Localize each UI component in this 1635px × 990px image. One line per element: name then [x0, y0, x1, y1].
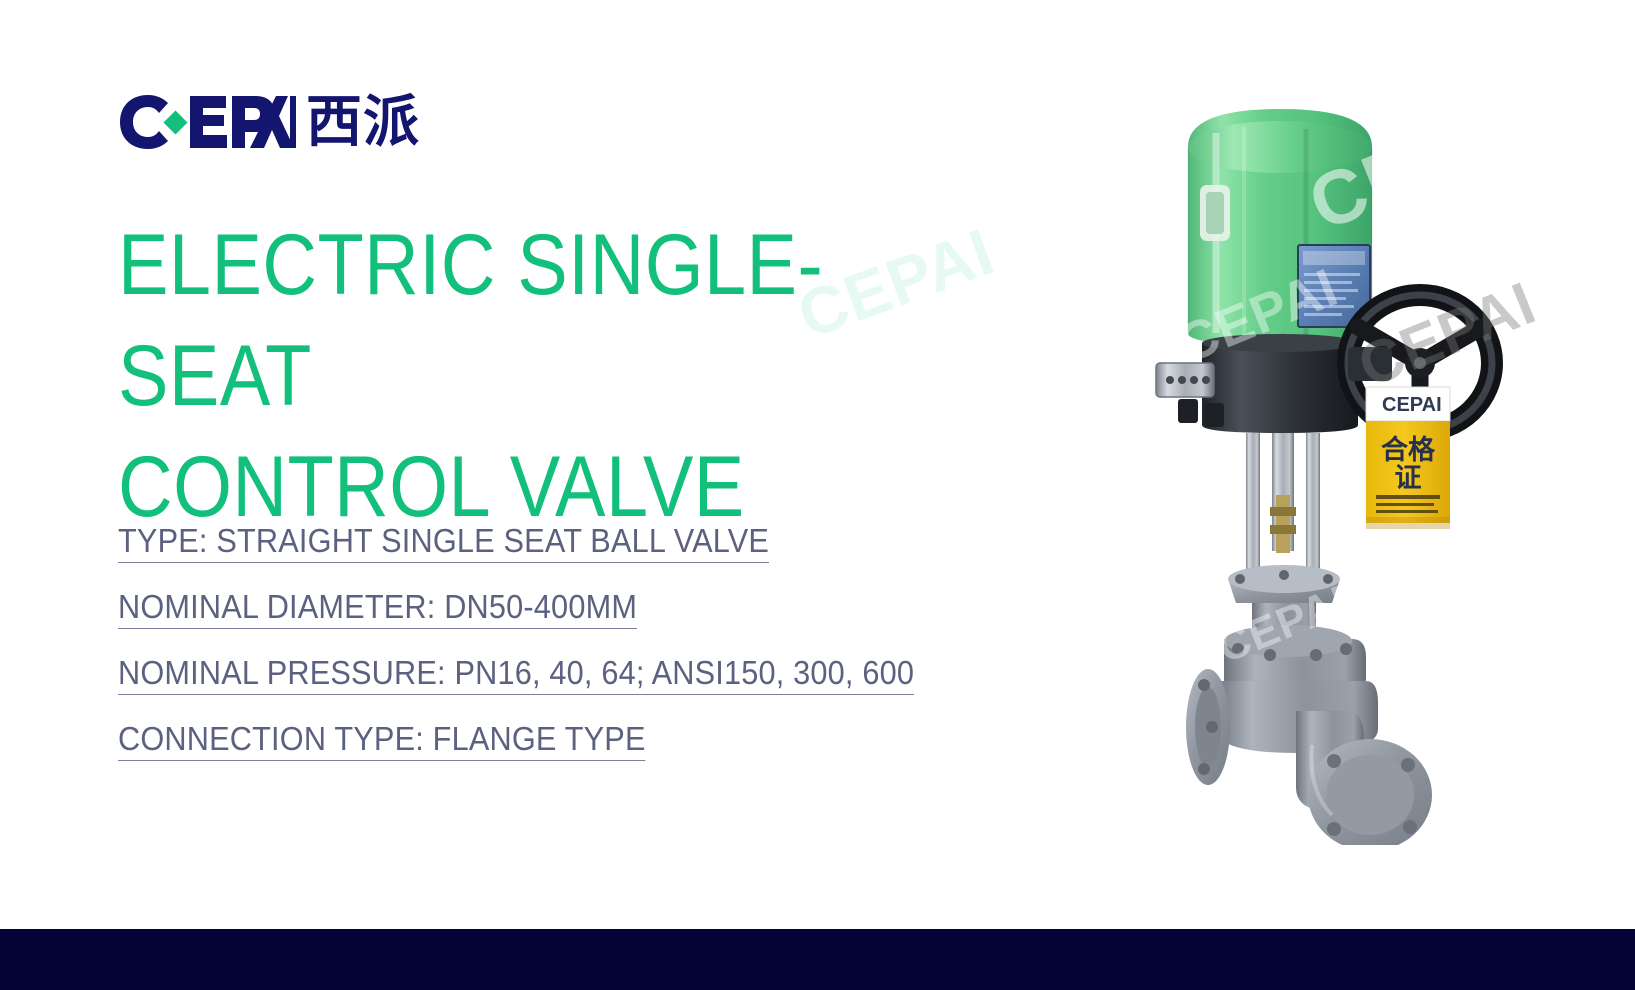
cepai-wordmark-icon [118, 92, 296, 152]
logo-chinese-name: 西派 [306, 95, 420, 151]
spec-item-nominal-pressure: NOMINAL PRESSURE: PN16, 40, 64; ANSI150,… [118, 656, 914, 695]
footer-bar [0, 929, 1635, 990]
spec-item-type: TYPE: STRAIGHT SINGLE SEAT BALL VALVE [118, 524, 769, 563]
yoke-column-icon [1246, 433, 1260, 585]
valve-illustration-icon: CEPAI 合格 证 [1120, 55, 1540, 845]
actuator-base-icon [1202, 343, 1358, 433]
cable-gland-icon [1178, 399, 1198, 423]
svg-text:证: 证 [1395, 463, 1422, 494]
spec-item-connection-type: CONNECTION TYPE: FLANGE TYPE [118, 722, 646, 761]
yoke-column-icon [1306, 433, 1320, 585]
page-title: ELECTRIC SINGLE-SEAT CONTROL VALVE [118, 210, 963, 543]
cepai-logo[interactable]: 西派 [118, 88, 420, 156]
green-diamond-icon [163, 110, 187, 134]
slide-canvas: 西派 ELECTRIC SINGLE-SEAT CONTROL VALVE TY… [0, 0, 1635, 990]
spec-row: CONNECTION TYPE: FLANGE TYPE [118, 722, 1098, 788]
cable-gland-icon [1204, 403, 1224, 427]
svg-text:合格: 合格 [1381, 434, 1436, 466]
spec-row: TYPE: STRAIGHT SINGLE SEAT BALL VALVE [118, 524, 1098, 590]
spec-list: TYPE: STRAIGHT SINGLE SEAT BALL VALVE NO… [118, 524, 1098, 788]
spec-item-nominal-diameter: NOMINAL DIAMETER: DN50-400MM [118, 590, 637, 629]
certificate-tag-icon: CEPAI 合格 证 [1366, 387, 1450, 529]
stem-coupling-icon [1276, 495, 1290, 553]
product-image: CEPAI 合格 证 [1120, 55, 1540, 845]
spec-row: NOMINAL DIAMETER: DN50-400MM [118, 590, 1098, 656]
svg-text:CEPAI: CEPAI [1382, 394, 1442, 416]
spec-row: NOMINAL PRESSURE: PN16, 40, 64; ANSI150,… [118, 656, 1098, 722]
